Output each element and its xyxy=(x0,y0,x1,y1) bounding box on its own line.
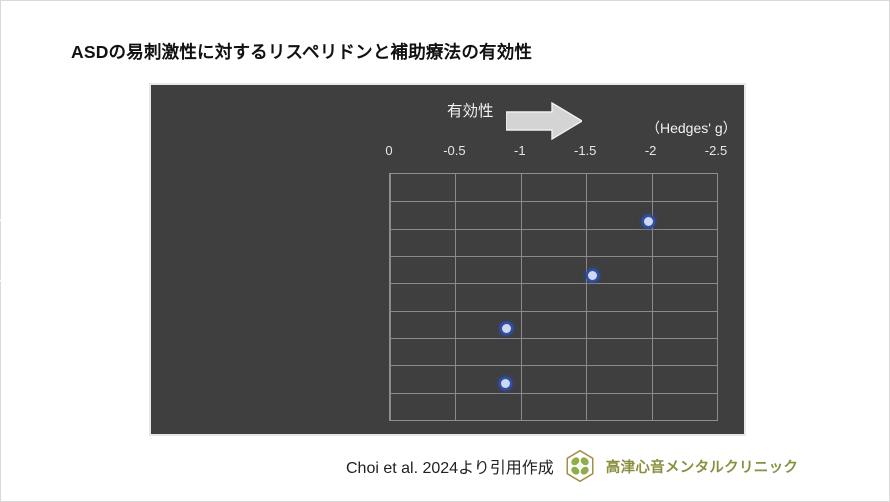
data-point[interactable] xyxy=(502,324,511,333)
x-tick-label: -2 xyxy=(645,143,657,158)
x-axis-ticks: 0-0.5-1-1.5-2-2.5 xyxy=(151,143,744,163)
x-tick-label: -2.5 xyxy=(705,143,727,158)
data-point[interactable] xyxy=(501,379,510,388)
source-citation: Choi et al. 2024より引用作成 xyxy=(346,454,554,478)
x-tick-label: -1.5 xyxy=(574,143,596,158)
category-label: リスペリドン+メマンチン xyxy=(0,265,140,285)
slide-root: ASDの易刺激性に対するリスペリドンと補助療法の有効性 有効性 （Hedges'… xyxy=(0,0,890,502)
footer: Choi et al. 2024より引用作成 高津心音メンタルクリニック xyxy=(346,449,798,483)
clinic-name: 高津心音メンタルクリニック xyxy=(606,456,798,477)
effectiveness-label: 有効性 xyxy=(447,99,494,121)
hexagon-clover-logo-icon xyxy=(563,449,597,483)
plot-area xyxy=(389,173,718,421)
vertical-gridline xyxy=(390,174,391,420)
page-title: ASDの易刺激性に対するリスペリドンと補助療法の有効性 xyxy=(71,39,532,64)
vertical-gridline xyxy=(455,174,456,420)
horizontal-gridline xyxy=(390,338,717,339)
horizontal-gridline xyxy=(390,283,717,284)
horizontal-gridline xyxy=(390,229,717,230)
vertical-gridline xyxy=(652,174,653,420)
x-tick-label: -0.5 xyxy=(443,143,465,158)
chart-panel: 有効性 （Hedges' g） 0-0.5-1-1.5-2-2.5 リスペリドン… xyxy=(149,83,746,436)
category-label: リスペリドン xyxy=(60,372,140,392)
horizontal-gridline xyxy=(390,256,717,257)
vertical-gridline xyxy=(521,174,522,420)
data-point[interactable] xyxy=(644,217,653,226)
right-arrow-icon xyxy=(506,101,582,141)
category-label: リスペリドン+トピラマート xyxy=(0,210,140,230)
horizontal-gridline xyxy=(390,393,717,394)
horizontal-gridline xyxy=(390,201,717,202)
data-point[interactable] xyxy=(588,271,597,280)
units-label: （Hedges' g） xyxy=(646,118,737,138)
x-tick-label: 0 xyxy=(385,143,392,158)
vertical-gridline xyxy=(717,174,718,420)
x-tick-label: -1 xyxy=(514,143,526,158)
category-label: リスペリドン+スルフォラファン xyxy=(0,317,140,337)
horizontal-gridline xyxy=(390,365,717,366)
vertical-gridline xyxy=(586,174,587,420)
horizontal-gridline xyxy=(390,311,717,312)
